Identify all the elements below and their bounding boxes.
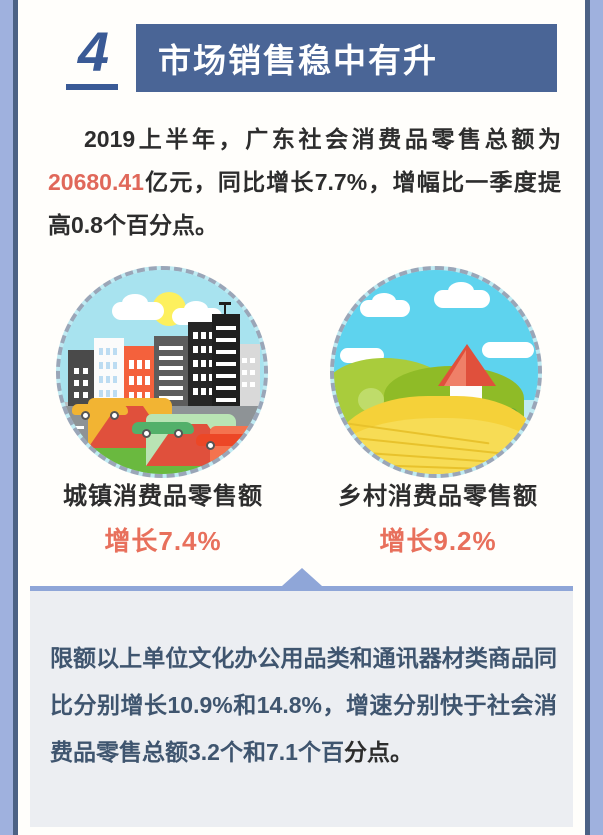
illustration-row [18, 262, 585, 492]
wheat-field-light [334, 418, 538, 474]
intro-paragraph: 2019上半年，广东社会消费品零售总额为20680.41亿元，同比增长7.7%，… [48, 118, 561, 247]
callout-panel: 限额以上单位文化办公用品类和通讯器材类商品同比分别增长10.9%和14.8%，增… [30, 586, 573, 827]
caption-value: 增长9.2% [318, 521, 558, 558]
caption-row: 城镇消费品零售额 增长7.4% 乡村消费品零售额 增长9.2% [18, 476, 585, 556]
left-edge-band [0, 0, 13, 835]
building [238, 344, 260, 410]
rural-scene [334, 270, 538, 474]
right-edge-band [590, 0, 603, 835]
right-edge-rule [585, 0, 590, 835]
cloud-icon [184, 301, 208, 317]
section-number-wrap: 4 [58, 22, 128, 94]
building-tower [212, 314, 240, 410]
section-number: 4 [58, 22, 128, 82]
cloud-icon [372, 293, 396, 309]
caption-label: 乡村消费品零售额 [318, 476, 558, 511]
car-icon [196, 426, 258, 448]
section-number-underline [66, 84, 118, 90]
section-title-box: 市场销售稳中有升 [136, 24, 557, 92]
up-triangle-icon [282, 568, 322, 586]
callout-text-main: 限额以上单位文化办公用品类和通讯器材类商品同比分别增长10.9%和14.8%，增… [50, 645, 557, 765]
farmhouse-field-icon [330, 266, 542, 478]
urban-scene [60, 270, 264, 474]
caption-urban: 城镇消费品零售额 增长7.4% [43, 476, 283, 558]
callout-text-tail: 分点。 [344, 739, 413, 765]
caption-label: 城镇消费品零售额 [43, 476, 283, 511]
road-marking [66, 426, 84, 429]
car-icon [132, 414, 194, 436]
cloud-icon [448, 282, 474, 300]
caption-value: 增长7.4% [43, 521, 283, 558]
intro-text-part1: 2019上半年，广东社会消费品零售总额为 [84, 126, 561, 152]
page-title: 市场销售稳中有升 [158, 34, 438, 82]
callout-panel-wrap: 限额以上单位文化办公用品类和通讯器材类商品同比分别增长10.9%和14.8%，增… [18, 568, 585, 827]
callout-text: 限额以上单位文化办公用品类和通讯器材类商品同比分别增长10.9%和14.8%，增… [50, 635, 557, 776]
caption-rural: 乡村消费品零售额 增长9.2% [318, 476, 558, 558]
section-header: 4 市场销售稳中有升 [18, 22, 585, 94]
car-icon [72, 398, 128, 418]
city-skyline-icon [56, 266, 268, 478]
cloud-icon [122, 294, 148, 312]
intro-highlight-value: 20680.41 [48, 169, 144, 195]
infographic-page: 4 市场销售稳中有升 2019上半年，广东社会消费品零售总额为20680.41亿… [18, 0, 585, 835]
